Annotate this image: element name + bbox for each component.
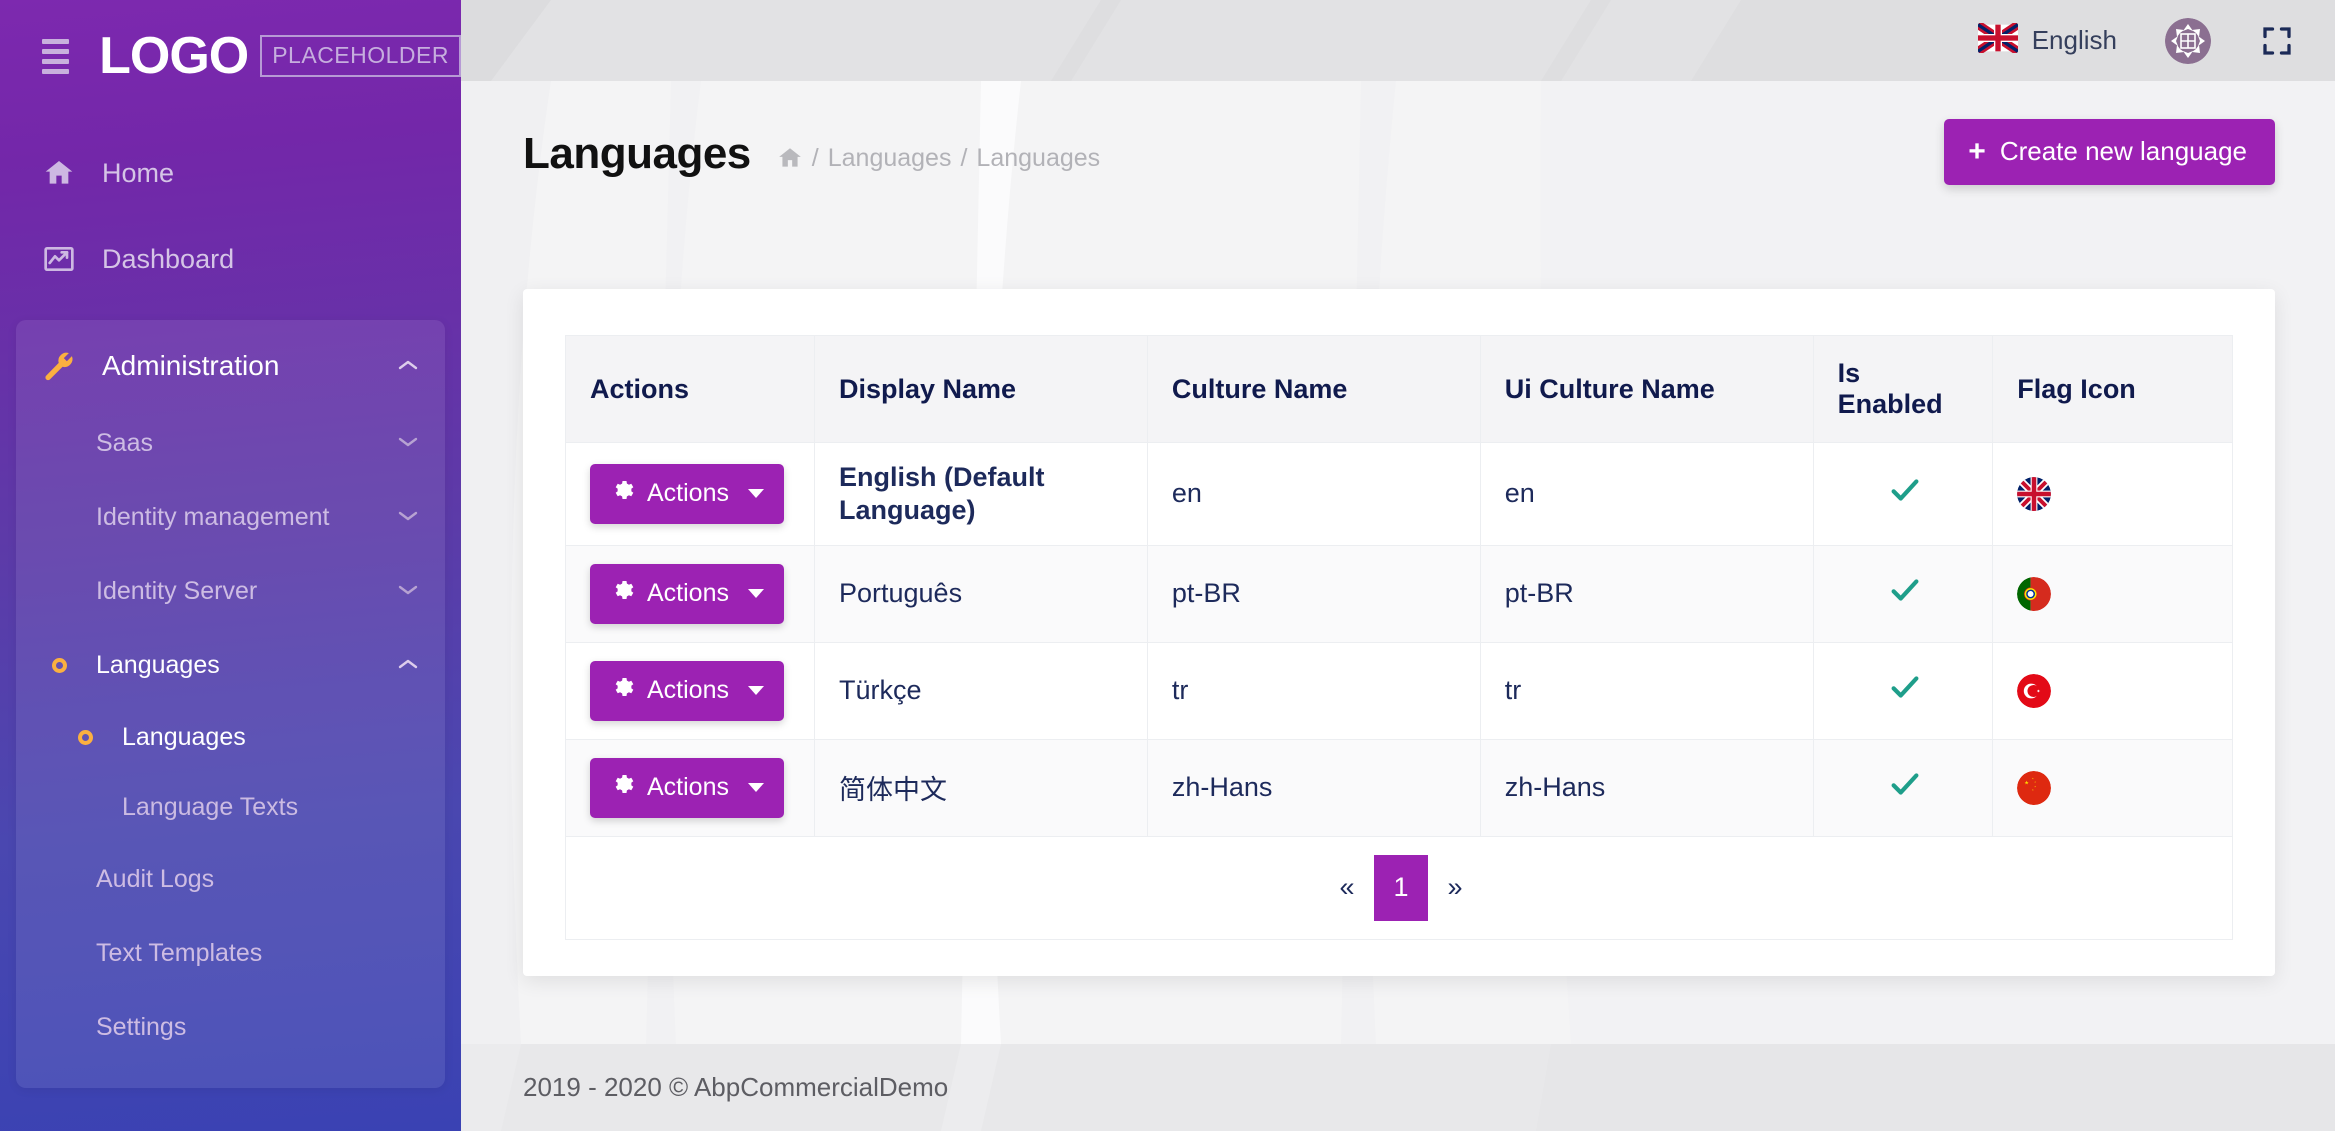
sidebar-item-label: Identity Server [96, 577, 377, 606]
cell-display-name: English (Default Language) [814, 443, 1147, 546]
turkey-flag-icon [2017, 674, 2051, 708]
caret-down-icon [748, 589, 764, 598]
wrench-icon [42, 350, 76, 382]
cell-ui-culture-name: tr [1480, 642, 1813, 739]
pagination-cell: « 1 » [566, 836, 2233, 939]
actions-button-label: Actions [647, 479, 729, 508]
sidebar-item-label: Languages [96, 651, 377, 680]
topbar: English [461, 0, 2335, 81]
chevron-up-icon [397, 654, 419, 677]
create-new-language-label: Create new language [2000, 136, 2247, 167]
sidebar-item-languages[interactable]: Languages [16, 702, 445, 772]
uk-flag-icon [2017, 477, 2051, 511]
pagination-row: « 1 » [566, 836, 2233, 939]
cell-culture-name: en [1147, 443, 1480, 546]
cell-culture-name: zh-Hans [1147, 739, 1480, 836]
hamburger-icon[interactable] [42, 39, 69, 74]
gear-icon [610, 772, 634, 803]
page-title: Languages [523, 129, 751, 179]
caret-down-icon [748, 489, 764, 498]
sidebar-item-settings[interactable]: Settings [16, 990, 445, 1064]
table-row: Actions Português pt-BR pt-BR [566, 545, 2233, 642]
sidebar-item-administration[interactable]: Administration [16, 326, 445, 406]
brand-header: LOGO PLACEHOLDER [0, 0, 461, 112]
cell-display-name: Português [814, 545, 1147, 642]
column-header-is-enabled[interactable]: Is Enabled [1813, 336, 1993, 443]
chevron-down-icon [397, 506, 419, 529]
cell-ui-culture-name: zh-Hans [1480, 739, 1813, 836]
cell-is-enabled [1813, 739, 1993, 836]
cell-flag-icon [1993, 739, 2233, 836]
sidebar-item-label: Administration [102, 350, 371, 382]
languages-card: Actions Display Name Culture Name Ui Cul… [523, 289, 2275, 976]
app-root: LOGO PLACEHOLDER Home Dashb [0, 0, 2335, 1131]
cell-actions: Actions [566, 545, 815, 642]
table-body: Actions English (Default Language) en en [566, 443, 2233, 940]
uk-flag-icon [1978, 23, 2018, 58]
caret-down-icon [748, 783, 764, 792]
logo[interactable]: LOGO PLACEHOLDER [99, 26, 461, 86]
chart-line-icon [42, 243, 76, 275]
footer-copyright: 2019 - 2020 © AbpCommercialDemo [523, 1072, 948, 1103]
breadcrumb-separator: / [960, 144, 967, 173]
plus-icon: + [1968, 137, 1986, 167]
pagination-next-button[interactable]: » [1428, 855, 1482, 921]
column-header-display-name[interactable]: Display Name [814, 336, 1147, 443]
cell-is-enabled [1813, 642, 1993, 739]
actions-button-label: Actions [647, 773, 729, 802]
check-icon [1888, 577, 1922, 615]
cell-display-name: Türkçe [814, 642, 1147, 739]
footer: 2019 - 2020 © AbpCommercialDemo [461, 1044, 2335, 1131]
actions-button[interactable]: Actions [590, 758, 784, 818]
sidebar-item-label: Saas [96, 429, 377, 458]
chevron-up-icon [397, 355, 419, 378]
pagination-page-1[interactable]: 1 [1374, 855, 1428, 921]
cell-flag-icon [1993, 545, 2233, 642]
language-label: English [2032, 25, 2117, 56]
check-icon [1888, 477, 1922, 515]
sidebar-item-text-templates[interactable]: Text Templates [16, 916, 445, 990]
sidebar: LOGO PLACEHOLDER Home Dashb [0, 0, 461, 1131]
languages-table: Actions Display Name Culture Name Ui Cul… [565, 335, 2233, 940]
actions-button[interactable]: Actions [590, 464, 784, 524]
bullet-icon [42, 658, 76, 673]
pagination: « 1 » [590, 855, 2212, 921]
logo-text: LOGO [99, 26, 248, 86]
table-header-row: Actions Display Name Culture Name Ui Cul… [566, 336, 2233, 443]
sidebar-primary-nav: Home Dashboard [0, 112, 461, 1088]
cell-actions: Actions [566, 642, 815, 739]
breadcrumb: / Languages / Languages [777, 144, 1100, 173]
column-header-actions[interactable]: Actions [566, 336, 815, 443]
caret-down-icon [748, 686, 764, 695]
table-row: Actions English (Default Language) en en [566, 443, 2233, 546]
main-content: Languages / Languages / Languages + Crea… [461, 81, 2335, 1044]
sidebar-item-languages-group[interactable]: Languages [16, 628, 445, 702]
home-icon[interactable] [777, 145, 803, 171]
cell-ui-culture-name: en [1480, 443, 1813, 546]
column-header-ui-culture-name[interactable]: Ui Culture Name [1480, 336, 1813, 443]
gear-icon [610, 478, 634, 509]
sidebar-administration-group: Administration Saas Identity management [16, 320, 445, 1088]
sidebar-item-label: Identity management [96, 503, 377, 532]
cell-is-enabled [1813, 443, 1993, 546]
table-row: Actions 简体中文 zh-Hans zh-Hans [566, 739, 2233, 836]
sidebar-item-label: Languages [122, 723, 419, 752]
sidebar-item-label: Text Templates [96, 939, 419, 968]
chevron-down-icon [397, 580, 419, 603]
check-icon [1888, 771, 1922, 809]
cell-display-name: 简体中文 [814, 739, 1147, 836]
cell-actions: Actions [566, 739, 815, 836]
gear-icon [610, 675, 634, 706]
sidebar-item-dashboard[interactable]: Dashboard [0, 216, 461, 302]
china-flag-icon [2017, 771, 2051, 805]
sidebar-item-home[interactable]: Home [0, 130, 461, 216]
column-header-culture-name[interactable]: Culture Name [1147, 336, 1480, 443]
sidebar-item-identity-management[interactable]: Identity management [16, 480, 445, 554]
language-selector[interactable]: English [1978, 23, 2117, 58]
actions-button-label: Actions [647, 676, 729, 705]
breadcrumb-item[interactable]: Languages [976, 144, 1100, 173]
sidebar-item-label: Settings [96, 1013, 419, 1042]
gear-icon [610, 578, 634, 609]
actions-button[interactable]: Actions [590, 564, 784, 624]
breadcrumb-separator: / [812, 144, 819, 173]
cell-culture-name: pt-BR [1147, 545, 1480, 642]
sidebar-item-identity-server[interactable]: Identity Server [16, 554, 445, 628]
sidebar-item-label: Audit Logs [96, 865, 419, 894]
home-icon [42, 157, 76, 189]
sidebar-item-label: Language Texts [122, 793, 419, 822]
table-head: Actions Display Name Culture Name Ui Cul… [566, 336, 2233, 443]
pagination-prev-button[interactable]: « [1320, 855, 1374, 921]
cell-flag-icon [1993, 642, 2233, 739]
sidebar-item-label: Dashboard [102, 244, 234, 275]
actions-button-label: Actions [647, 579, 729, 608]
cell-actions: Actions [566, 443, 815, 546]
fullscreen-icon[interactable] [2259, 23, 2295, 59]
column-header-flag-icon[interactable]: Flag Icon [1993, 336, 2233, 443]
chevron-down-icon [397, 432, 419, 455]
sidebar-item-label: Home [102, 158, 174, 189]
table-row: Actions Türkçe tr tr [566, 642, 2233, 739]
bullet-icon [68, 730, 102, 745]
logo-placeholder-text: PLACEHOLDER [260, 35, 461, 77]
portugal-flag-icon [2017, 577, 2051, 611]
create-new-language-button[interactable]: + Create new language [1944, 119, 2275, 185]
cell-culture-name: tr [1147, 642, 1480, 739]
cell-is-enabled [1813, 545, 1993, 642]
sidebar-item-language-texts[interactable]: Language Texts [16, 772, 445, 842]
check-icon [1888, 674, 1922, 712]
cell-ui-culture-name: pt-BR [1480, 545, 1813, 642]
sidebar-item-audit-logs[interactable]: Audit Logs [16, 842, 445, 916]
breadcrumb-item[interactable]: Languages [828, 144, 952, 173]
user-avatar-icon[interactable] [2165, 18, 2211, 64]
actions-button[interactable]: Actions [590, 661, 784, 721]
sidebar-item-saas[interactable]: Saas [16, 406, 445, 480]
cell-flag-icon [1993, 443, 2233, 546]
